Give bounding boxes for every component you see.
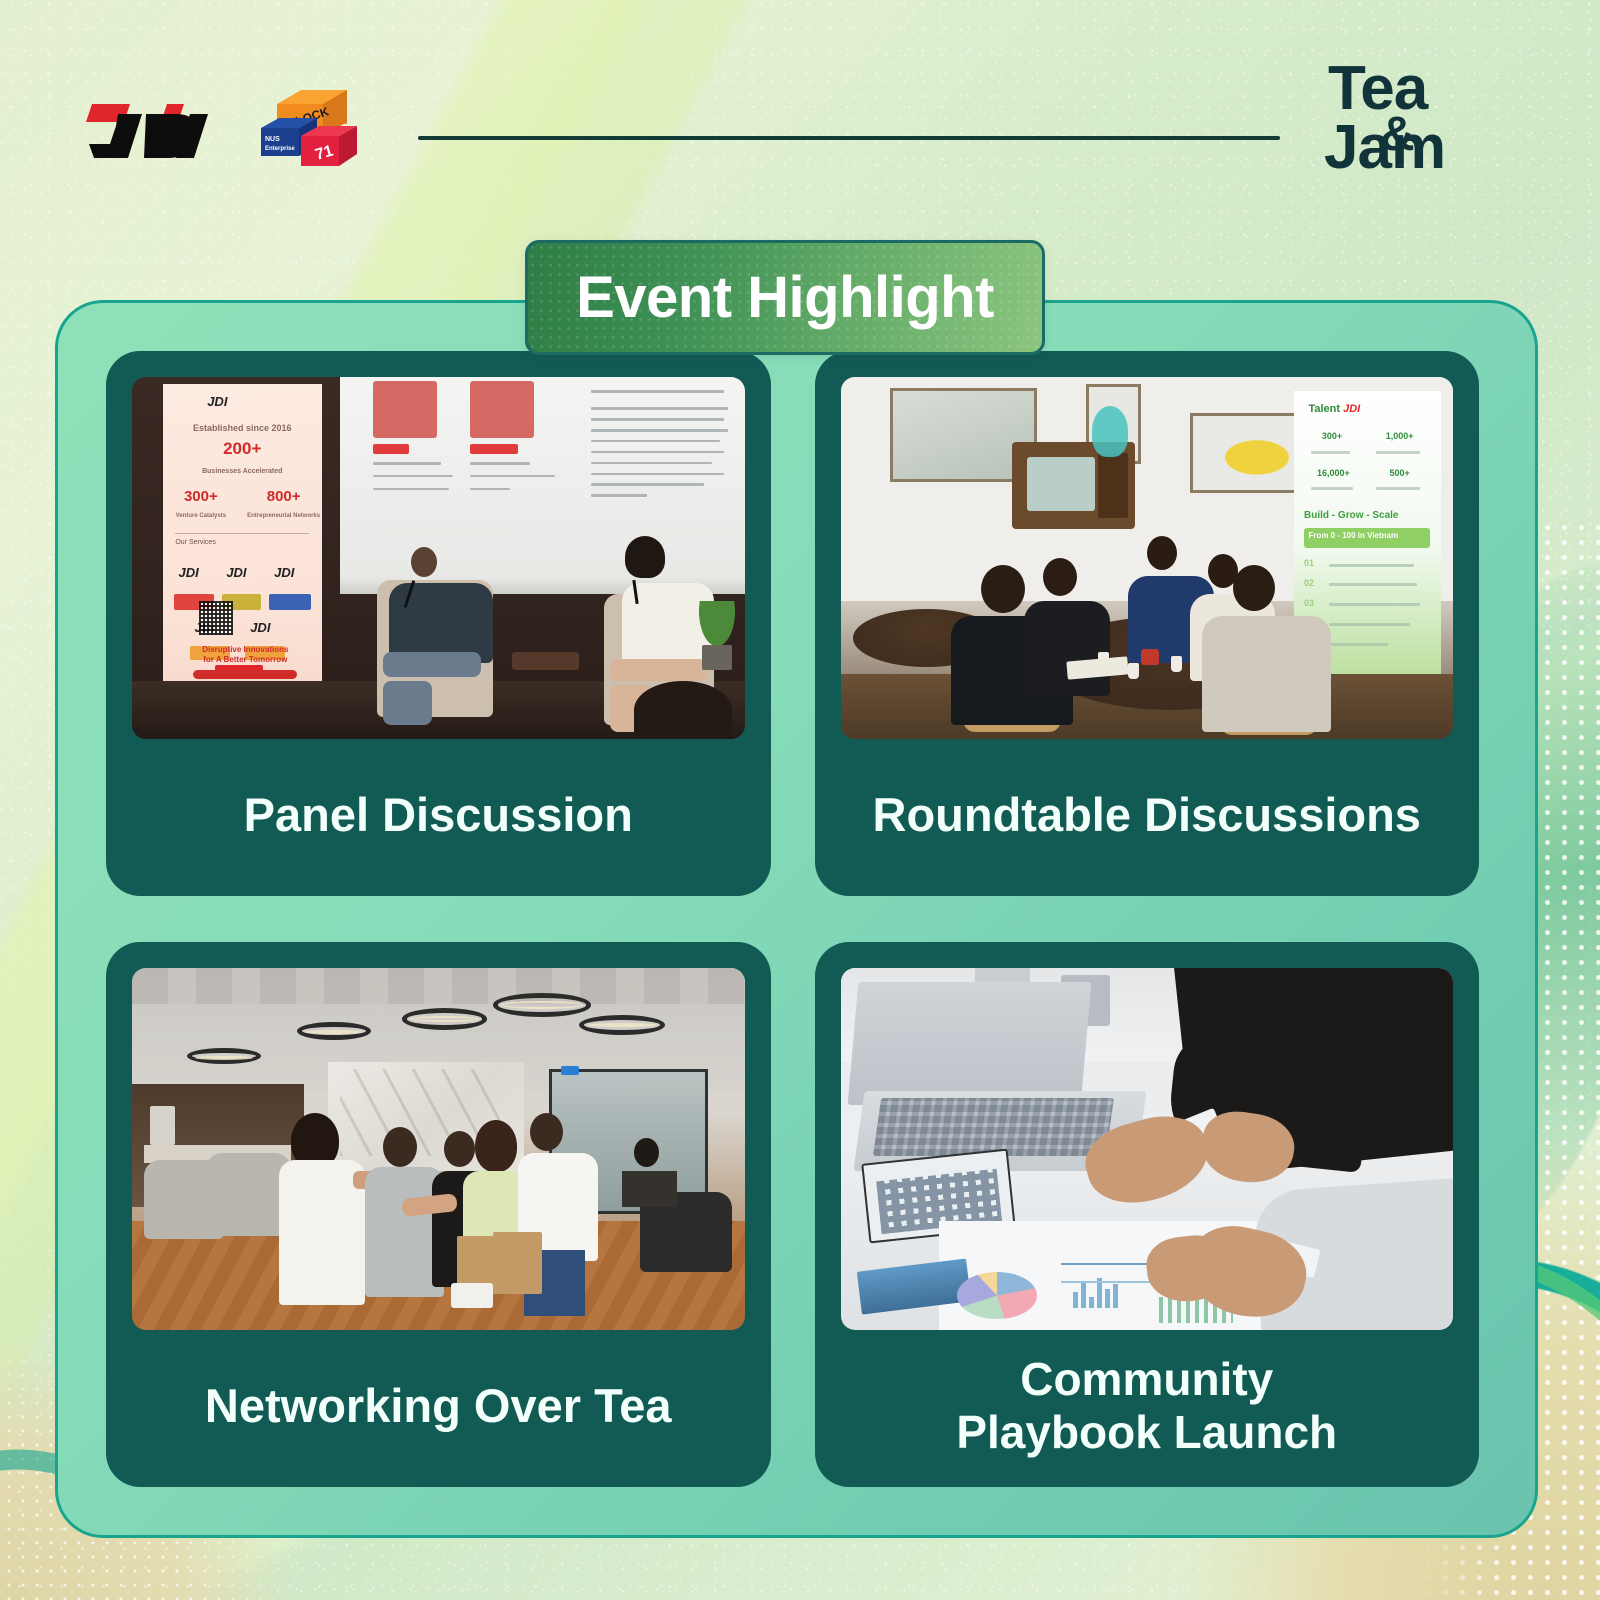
community-playbook-launch-label-line2: Playbook Launch	[956, 1406, 1337, 1458]
networking-over-tea-label: Networking Over Tea	[132, 1330, 745, 1487]
highlight-card-panel-discussion[interactable]: JDI Established since 2016 200+ Business…	[106, 351, 771, 896]
community-playbook-launch-label-line1: Community	[1020, 1353, 1273, 1405]
block71-nus-enterprise-logo: BLOCK NUS Enterprise 71	[255, 88, 370, 183]
roundtable-discussions-photo: Talent JDI 300+ 1,000+ 16,000+ 500+ Buil…	[841, 377, 1454, 739]
poster-header: BLOCK NUS Enterprise 71 Tea & Jam	[0, 0, 1600, 230]
event-highlight-title-badge: Event Highlight	[525, 240, 1045, 355]
event-highlight-poster: BLOCK NUS Enterprise 71 Tea & Jam Even	[0, 0, 1600, 1600]
community-playbook-launch-label: Community Playbook Launch	[841, 1330, 1454, 1487]
highlight-card-community-playbook-launch[interactable]: Community Playbook Launch	[815, 942, 1480, 1487]
svg-text:Enterprise: Enterprise	[265, 146, 295, 152]
panel-discussion-label: Panel Discussion	[132, 739, 745, 896]
highlight-card-roundtable-discussions[interactable]: Talent JDI 300+ 1,000+ 16,000+ 500+ Buil…	[815, 351, 1480, 896]
tea-and-jam-logo: Tea & Jam	[1322, 62, 1522, 202]
highlight-panel: JDI Established since 2016 200+ Business…	[55, 300, 1538, 1538]
roundtable-discussions-label: Roundtable Discussions	[841, 739, 1454, 896]
jdi-logo	[72, 96, 212, 166]
page-title: Event Highlight	[576, 264, 994, 331]
community-playbook-launch-photo	[841, 968, 1454, 1330]
highlight-card-grid: JDI Established since 2016 200+ Business…	[58, 303, 1535, 1535]
svg-text:NUS: NUS	[265, 136, 280, 143]
header-divider-rule	[418, 136, 1280, 140]
panel-discussion-photo: JDI Established since 2016 200+ Business…	[132, 377, 745, 739]
teajam-jam-text: Jam	[1322, 121, 1522, 174]
teajam-ampersand: &	[1380, 114, 1414, 155]
networking-over-tea-photo	[132, 968, 745, 1330]
highlight-card-networking-over-tea[interactable]: Networking Over Tea	[106, 942, 771, 1487]
teajam-tea-text: Tea	[1322, 62, 1522, 115]
